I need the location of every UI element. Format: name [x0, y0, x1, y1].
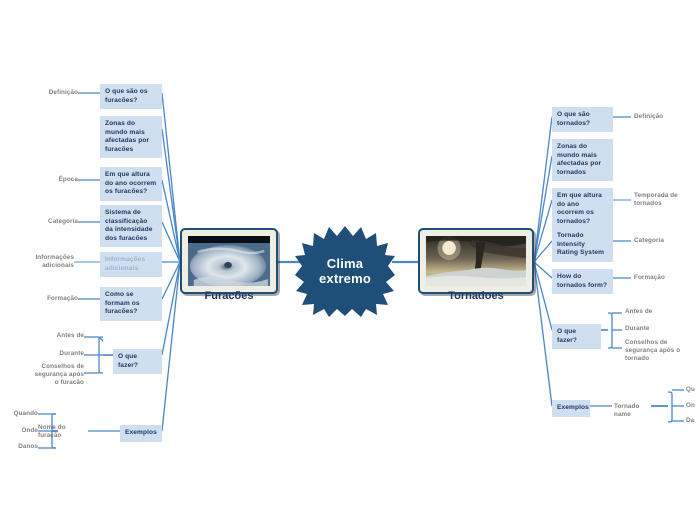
topic-o-que-sao-tornados[interactable]: O que são tornados? [552, 107, 613, 132]
leaf-nome-do-furacao[interactable]: Nome do furacão [38, 424, 84, 440]
leaf-quando-furacao[interactable]: Quando [0, 410, 38, 418]
leaf-antes-de-furacao[interactable]: Antes de [34, 332, 84, 340]
leaf-conselhos-seguranca-furacao[interactable]: Conselhos de segurança após o furacão [30, 363, 84, 388]
leaf-formacao-tornados[interactable]: Formação [634, 274, 694, 282]
branch-node-tornadoes-caption: Tornadoes [426, 286, 526, 303]
leaf-danos-tornado[interactable]: Da [686, 417, 697, 425]
central-topic-clima-extremo[interactable]: Clima extremo [295, 225, 395, 317]
leaf-formacao-furacoes[interactable]: Formação [18, 295, 78, 303]
leaf-informacoes-adicionais-furacoes[interactable]: Informações adicionais [8, 254, 74, 270]
leaf-quando-tornado[interactable]: Qu [686, 386, 697, 394]
central-topic-label: Clima extremo [295, 225, 395, 317]
topic-o-que-fazer-tornados[interactable]: O que fazer? [552, 324, 601, 349]
topic-epoca-furacoes[interactable]: Em que altura do ano ocorrem os furacões… [100, 167, 162, 201]
topic-como-se-formam-furacoes[interactable]: Como se formam os furacões? [100, 287, 162, 321]
leaf-onde-tornado[interactable]: On [686, 402, 697, 410]
leaf-temporada-de-tornados[interactable]: Temporada de tornados [634, 192, 692, 208]
topic-informacoes-adicionais-furacoes[interactable]: Informações adicionais [100, 252, 162, 277]
topic-exemplos-furacoes[interactable]: Exemplos [120, 425, 162, 442]
leaf-antes-de-tornado[interactable]: Antes de [625, 308, 681, 316]
branch-node-furacoes[interactable]: Furacões [180, 228, 278, 294]
topic-o-que-fazer-furacoes[interactable]: O que fazer? [113, 349, 162, 374]
branch-node-furacoes-caption: Furacões [188, 286, 270, 303]
topic-how-do-tornados-form[interactable]: How do tornados form? [552, 269, 613, 294]
leaf-danos-furacao[interactable]: Danos [0, 443, 38, 451]
leaf-durante-furacao[interactable]: Durante [34, 350, 84, 358]
mindmap-canvas: Clima extremo Furacões [0, 0, 697, 520]
leaf-categoria-furacoes[interactable]: Categoria [18, 218, 78, 226]
topic-tornado-intensity-rating-system[interactable]: Tornado Intensity Rating System [552, 228, 613, 262]
leaf-epoca-furacoes[interactable]: Época [18, 176, 78, 184]
topic-sistema-classificacao-furacoes[interactable]: Sistema de classificação da intensidade … [100, 205, 162, 247]
topic-epoca-tornados[interactable]: Em que altura do ano ocorrem os tornados… [552, 188, 613, 230]
leaf-definicao-tornados[interactable]: Definição [634, 113, 694, 121]
leaf-durante-tornado[interactable]: Durante [625, 325, 681, 333]
topic-zonas-afectadas-tornados[interactable]: Zonas do mundo mais afectadas por tornad… [552, 139, 613, 181]
leaf-definicao-furacoes[interactable]: Definição [18, 89, 78, 97]
topic-o-que-sao-furacoes[interactable]: O que são os furacões? [100, 84, 162, 109]
topic-zonas-afectadas-furacoes[interactable]: Zonas do mundo mais afectadas por furacõ… [100, 116, 162, 158]
branch-node-tornadoes[interactable]: Tornadoes [418, 228, 534, 294]
tornado-image [426, 236, 526, 286]
leaf-tornado-name[interactable]: Tornado name [614, 403, 658, 419]
leaf-categoria-tornados[interactable]: Categoria [634, 237, 694, 245]
leaf-conselhos-seguranca-tornado[interactable]: Conselhos de segurança após o tornado [625, 339, 683, 364]
topic-exemplos-tornados[interactable]: Exemplos [552, 400, 590, 417]
leaf-onde-furacao[interactable]: Onde [0, 427, 38, 435]
hurricane-image [188, 236, 270, 286]
